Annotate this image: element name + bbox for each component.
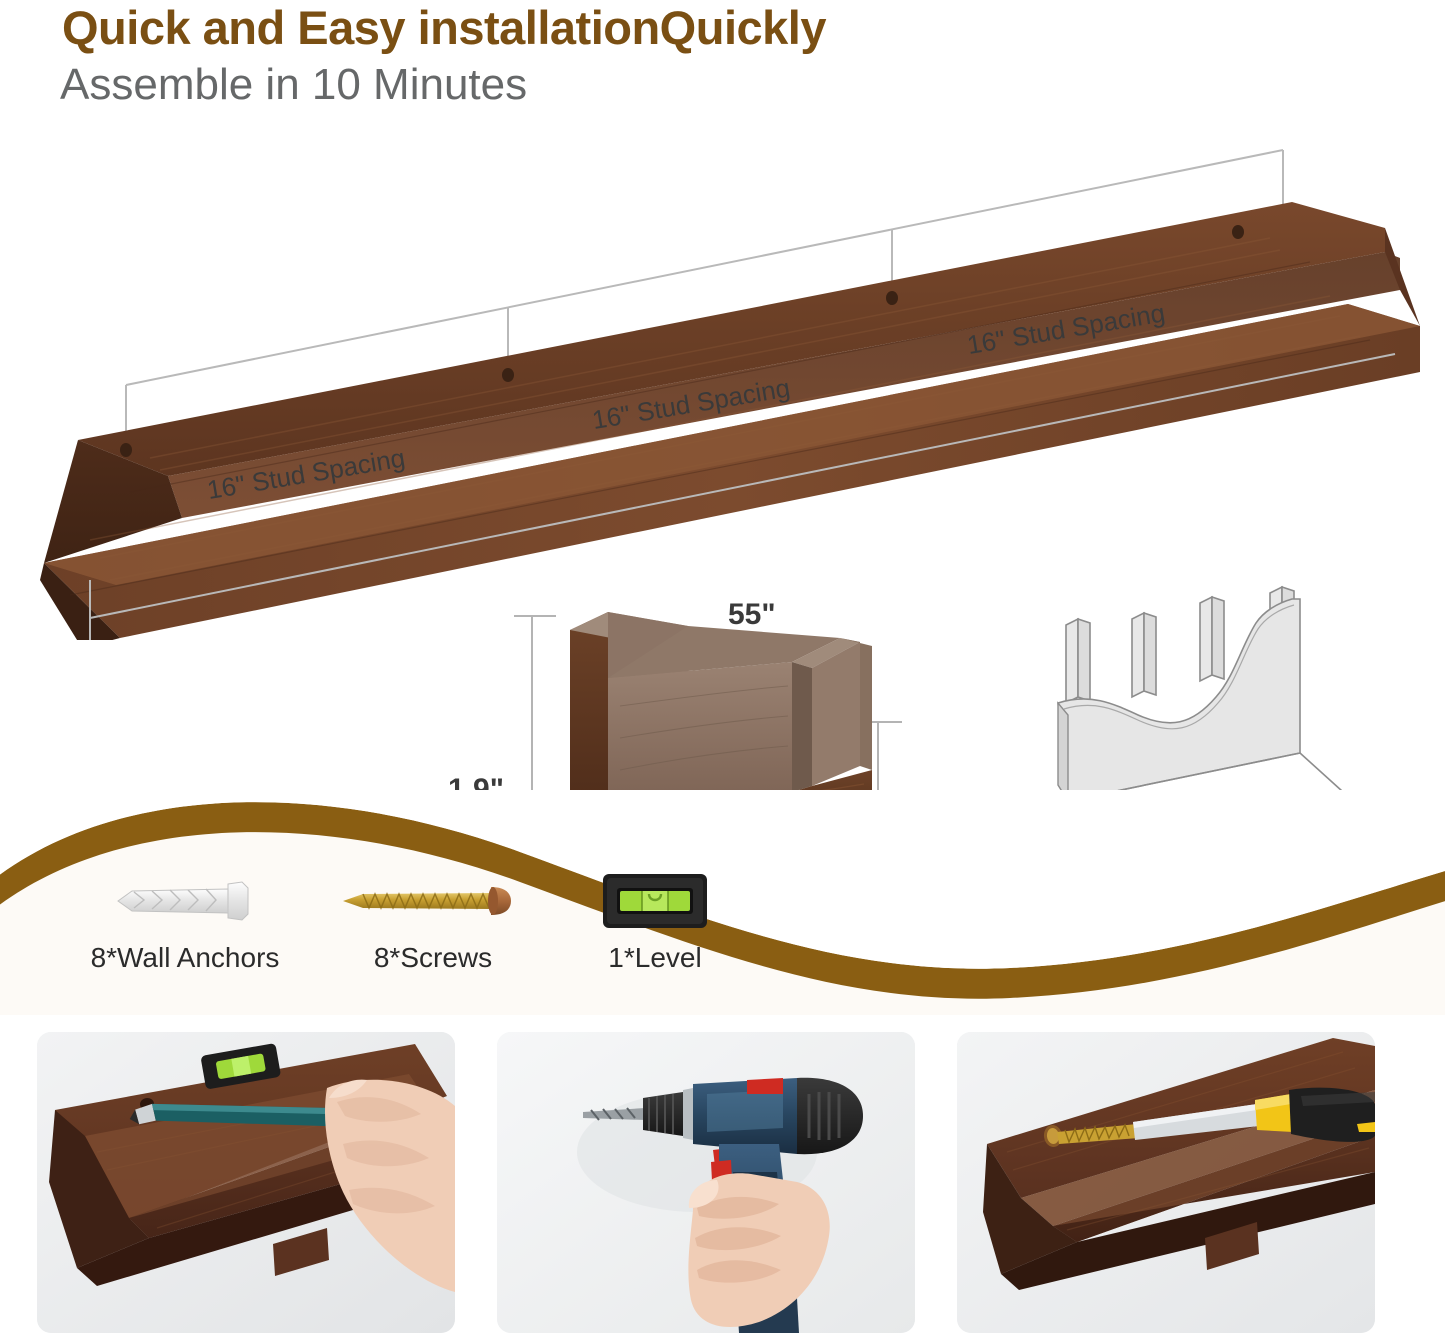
hardware-band: 8*Wall Anchors <box>0 790 1445 1015</box>
screw-icon <box>318 870 548 932</box>
page-subtitle: Assemble in 10 Minutes <box>0 55 1445 109</box>
shelf-illustration: 16" Stud Spacing 16" Stud Spacing 16" St… <box>30 140 1430 640</box>
hardware-item-level: 1*Level <box>560 870 750 974</box>
wall-anchor-icon <box>40 870 330 932</box>
hardware-item-wall-anchors: 8*Wall Anchors <box>40 870 330 974</box>
hardware-item-label: 1*Level <box>560 942 750 974</box>
drill-wall-step <box>497 1032 915 1333</box>
hardware-item-label: 8*Screws <box>318 942 548 974</box>
header: Quick and Easy installationQuickly Assem… <box>0 0 1445 109</box>
mark-holes-step <box>37 1032 455 1333</box>
bubble-level-icon <box>560 870 750 932</box>
product-diagram: 16" Stud Spacing 16" Stud Spacing 16" St… <box>0 130 1445 820</box>
hardware-item-label: 8*Wall Anchors <box>40 942 330 974</box>
installation-steps <box>0 1022 1445 1333</box>
hardware-list: 8*Wall Anchors <box>0 870 780 990</box>
page-title: Quick and Easy installationQuickly <box>0 0 1445 55</box>
screw-shelf-step <box>957 1032 1375 1333</box>
hardware-item-screws: 8*Screws <box>318 870 548 974</box>
